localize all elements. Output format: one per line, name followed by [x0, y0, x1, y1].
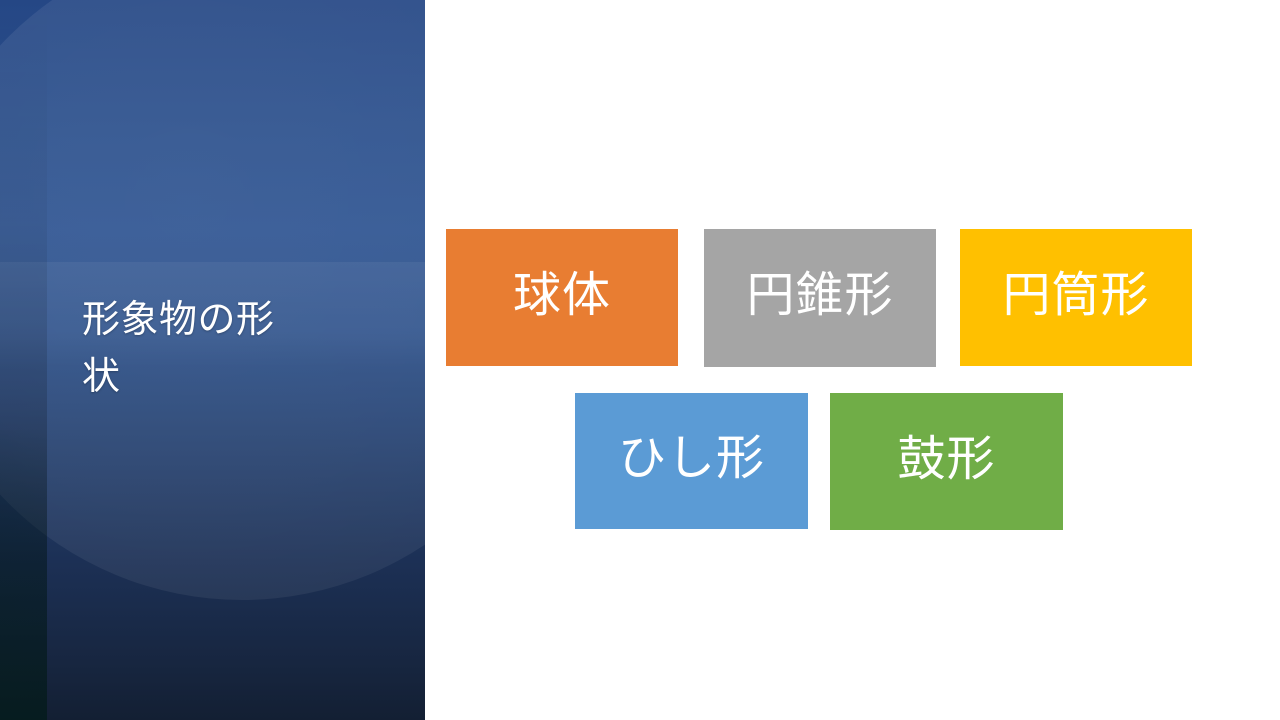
- slide: 形象物の形 状 球体 円錐形 円筒形 ひし形 鼓形: [0, 0, 1280, 720]
- title-panel: 形象物の形 状: [0, 0, 425, 720]
- shape-box-cone[interactable]: 円錐形: [704, 229, 936, 367]
- shape-box-cylinder[interactable]: 円筒形: [960, 229, 1192, 366]
- shape-label-cone: 円錐形: [746, 272, 893, 320]
- slide-title: 形象物の形 状: [82, 292, 382, 406]
- shape-box-rhombus[interactable]: ひし形: [575, 393, 808, 529]
- shape-label-sphere: 球体: [513, 272, 611, 320]
- shape-label-drum: 鼓形: [897, 436, 995, 484]
- shape-label-rhombus: ひし形: [618, 435, 765, 483]
- shape-box-drum[interactable]: 鼓形: [830, 393, 1063, 530]
- shape-box-sphere[interactable]: 球体: [446, 229, 678, 366]
- shape-label-cylinder: 円筒形: [1002, 272, 1149, 320]
- panel-corner-shadow: [0, 430, 47, 720]
